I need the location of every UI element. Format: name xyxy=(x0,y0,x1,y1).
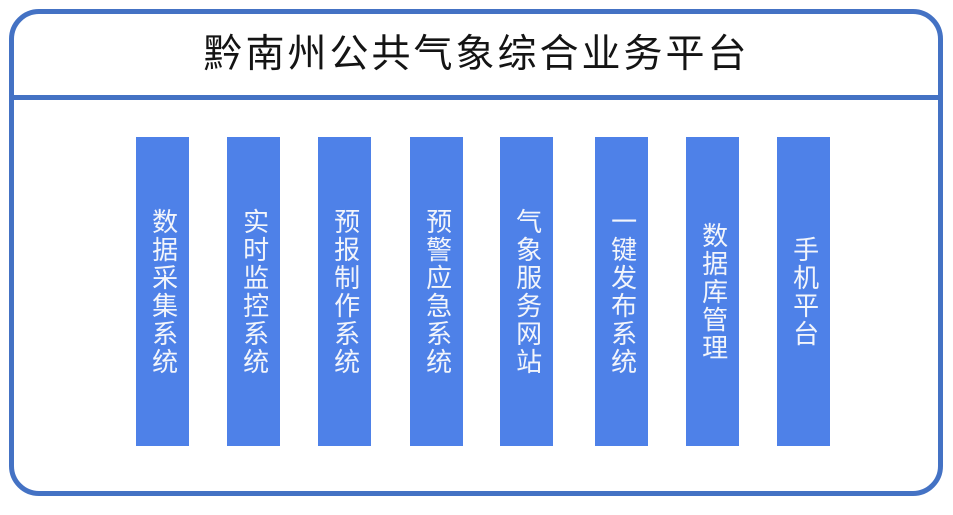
module-label-text: 气象服务网站 xyxy=(509,208,543,376)
module-label-wrap: 预报制作系统 xyxy=(318,137,371,446)
module-block-warning-emergency[interactable]: 预警应急系统 xyxy=(410,137,463,446)
module-block-weather-service-website[interactable]: 气象服务网站 xyxy=(500,137,553,446)
module-label-text: 实时监控系统 xyxy=(236,208,270,376)
module-block-database-management[interactable]: 数据库管理 xyxy=(686,137,739,446)
module-label-wrap: 数据库管理 xyxy=(686,137,739,446)
module-label-wrap: 手机平台 xyxy=(777,137,830,446)
diagram-canvas: 黔南州公共气象综合业务平台 数据采集系统 实时监控系统 预报制作系统 预警应急系… xyxy=(0,0,953,515)
module-block-realtime-monitoring[interactable]: 实时监控系统 xyxy=(227,137,280,446)
module-label-wrap: 实时监控系统 xyxy=(227,137,280,446)
module-block-data-collection[interactable]: 数据采集系统 xyxy=(136,137,189,446)
module-label-wrap: 一键发布系统 xyxy=(595,137,648,446)
module-block-one-click-publish[interactable]: 一键发布系统 xyxy=(595,137,648,446)
module-label-wrap: 气象服务网站 xyxy=(500,137,553,446)
module-label-wrap: 预警应急系统 xyxy=(410,137,463,446)
module-label-text: 数据库管理 xyxy=(695,222,729,362)
module-label-text: 手机平台 xyxy=(786,236,820,348)
module-block-mobile-platform[interactable]: 手机平台 xyxy=(777,137,830,446)
module-columns-group: 数据采集系统 实时监控系统 预报制作系统 预警应急系统 气象服务网站 xyxy=(0,0,953,515)
module-label-wrap: 数据采集系统 xyxy=(136,137,189,446)
module-label-text: 一键发布系统 xyxy=(604,208,638,376)
module-label-text: 数据采集系统 xyxy=(145,208,179,376)
module-label-text: 预警应急系统 xyxy=(419,208,453,376)
module-label-text: 预报制作系统 xyxy=(327,208,361,376)
module-block-forecast-production[interactable]: 预报制作系统 xyxy=(318,137,371,446)
